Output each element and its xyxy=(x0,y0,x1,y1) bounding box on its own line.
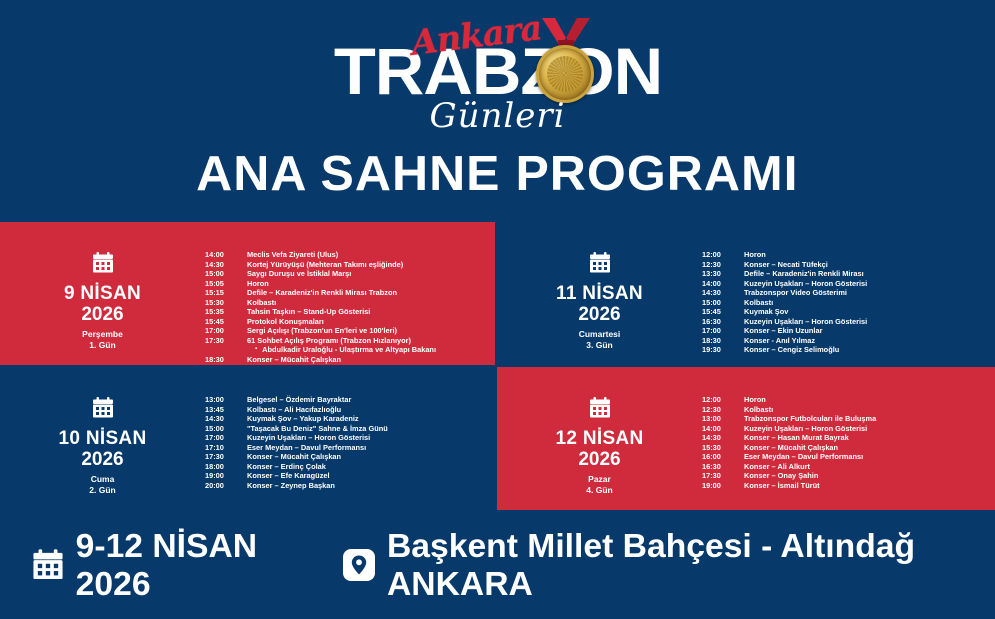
schedule-row: 19:00Konser – İsmail Türüt xyxy=(702,481,987,491)
event-time: 15:00 xyxy=(205,269,247,279)
schedule-row: 14:30Kuymak Şov – Yakup Karadeniz xyxy=(205,414,487,424)
day-weekday: Cuma xyxy=(0,473,205,485)
schedule-row: 19:30Konser – Cengiz Selimoğlu xyxy=(702,345,987,355)
event-logo: TRABZON Ankara Günleri xyxy=(333,12,663,137)
event-title: Eser Meydan – Davul Performansı xyxy=(744,452,863,462)
event-title: Kuymak Şov xyxy=(744,307,788,317)
day-year: 2026 xyxy=(0,449,205,470)
bullet-icon: ▪ xyxy=(255,345,257,355)
gold-medal-icon xyxy=(536,45,594,103)
event-time: 20:00 xyxy=(205,481,247,491)
schedule-row: 12:00Horon xyxy=(702,395,987,405)
event-time: 12:30 xyxy=(702,405,744,415)
schedule-grid: 9 NİSAN 2026 Perşembe 1. Gün 14:00Meclis… xyxy=(0,222,995,510)
calendar-icon xyxy=(32,549,64,580)
day-date: 10 NİSAN xyxy=(0,428,205,449)
schedule-row: 17:00Konser – Ekin Uzunlar xyxy=(702,326,987,336)
event-time: 15:00 xyxy=(702,298,744,308)
event-title: Konser – Cengiz Selimoğlu xyxy=(744,345,839,355)
event-time: 16:00 xyxy=(702,452,744,462)
schedule-row: 15:45Kuymak Şov xyxy=(702,307,987,317)
schedule-row: 13:30Defile – Karadeniz'in Renkli Mirası xyxy=(702,269,987,279)
event-title: Kuzeyin Uşakları – Horon Gösterisi xyxy=(744,317,867,327)
event-time: 16:30 xyxy=(702,317,744,327)
event-title: Kuzeyin Uşakları – Horon Gösterisi xyxy=(744,279,867,289)
event-time: 15:30 xyxy=(702,443,744,453)
event-time: 16:30 xyxy=(702,462,744,472)
poster-footer: 9-12 NİSAN 2026 Başkent Millet Bahçesi -… xyxy=(0,510,995,619)
schedule-row: 14:00Kuzeyin Uşakları – Horon Gösterisi xyxy=(702,279,987,289)
event-title: Kolbastı xyxy=(247,298,276,308)
event-title: Kuzeyin Uşakları – Horon Gösterisi xyxy=(247,433,370,443)
event-time: 12:30 xyxy=(702,260,744,270)
schedule-row: 15:05Horon xyxy=(205,279,487,289)
day-panel-4: 12 NİSAN 2026 Pazar 4. Gün 12:00Horon12:… xyxy=(497,367,995,510)
schedule-row: 12:30Konser – Necati Tüfekçi xyxy=(702,260,987,270)
schedule-row: 15:35Tahsin Taşkın – Stand-Up Gösterisi xyxy=(205,307,487,317)
event-time: 17:00 xyxy=(702,326,744,336)
event-time: 17:00 xyxy=(205,433,247,443)
event-time: 14:30 xyxy=(205,414,247,424)
schedule-row: 20:00Konser – Zeynep Başkan xyxy=(205,481,487,491)
event-title: Abdulkadir Uraloğlu - Ulaştırma ve Altya… xyxy=(262,345,436,355)
event-title: Konser – Ekin Uzunlar xyxy=(744,326,822,336)
event-time: 15:35 xyxy=(205,307,247,317)
schedule-row: 17:10Eser Meydan – Davul Performansı xyxy=(205,443,487,453)
day-schedule-list: 12:00Horon12:30Kolbastı13:00Trabzonspor … xyxy=(702,367,995,490)
schedule-row: 15:00"Taşacak Bu Deniz" Sahne & İmza Gün… xyxy=(205,424,487,434)
event-time: 13:45 xyxy=(205,405,247,415)
day-panel-3: 10 NİSAN 2026 Cuma 2. Gün 13:00Belgesel … xyxy=(0,367,495,510)
event-title: Tahsin Taşkın – Stand-Up Gösterisi xyxy=(247,307,370,317)
day-panel-2: 11 NİSAN 2026 Cumartesi 3. Gün 12:00Horo… xyxy=(497,222,995,365)
schedule-row: 13:00Trabzonspor Futbolcuları ile Buluşm… xyxy=(702,414,987,424)
schedule-row: 16:00Eser Meydan – Davul Performansı xyxy=(702,452,987,462)
day-date-block: 9 NİSAN 2026 Perşembe 1. Gün xyxy=(0,222,205,351)
event-time: 14:30 xyxy=(702,433,744,443)
schedule-row: 16:30Kuzeyin Uşakları – Horon Gösterisi xyxy=(702,317,987,327)
event-title: Horon xyxy=(744,395,766,405)
schedule-row: 16:30Konser – Ali Alkurt xyxy=(702,462,987,472)
schedule-row: 13:45Kolbastı – Ali Hacıfazlıoğlu xyxy=(205,405,487,415)
event-title: Konser – Hasan Murat Bayrak xyxy=(744,433,849,443)
event-time: 14:00 xyxy=(205,250,247,260)
event-title: Meclis Vefa Ziyareti (Ulus) xyxy=(247,250,338,260)
schedule-row: 13:00Belgesel – Özdemir Bayraktar xyxy=(205,395,487,405)
event-time: 19:30 xyxy=(702,345,744,355)
day-date: 12 NİSAN xyxy=(497,428,702,449)
schedule-row: 15:30Konser – Mücahit Çalışkan xyxy=(702,443,987,453)
schedule-row: 15:00Saygı Duruşu ve İstiklal Marşı xyxy=(205,269,487,279)
schedule-row: 14:30Trabzonspor Video Gösterimi xyxy=(702,288,987,298)
event-time: 13:00 xyxy=(205,395,247,405)
event-time: 15:15 xyxy=(205,288,247,298)
event-time: 12:00 xyxy=(702,250,744,260)
logo-gunleri-text: Günleri xyxy=(333,96,663,136)
event-time: 17:30 xyxy=(205,336,247,346)
day-weekday: Cumartesi xyxy=(497,328,702,340)
event-title: Konser – Efe Karagüzel xyxy=(247,471,330,481)
event-title: Kuzeyin Uşakları – Horon Gösterisi xyxy=(744,424,867,434)
schedule-row: 17:3061 Sohbet Açılış Programı (Trabzon … xyxy=(205,336,487,346)
event-title: Konser - Anıl Yılmaz xyxy=(744,336,815,346)
event-title: Kuymak Şov – Yakup Karadeniz xyxy=(247,414,359,424)
event-title: Horon xyxy=(247,279,269,289)
event-time: 18:00 xyxy=(205,462,247,472)
event-title: Trabzonspor Futbolcuları ile Buluşma xyxy=(744,414,876,424)
event-time: 19:00 xyxy=(205,471,247,481)
schedule-row: 18:30Konser - Anıl Yılmaz xyxy=(702,336,987,346)
event-title: Konser – Zeynep Başkan xyxy=(247,481,335,491)
schedule-subitem: ▪Abdulkadir Uraloğlu - Ulaştırma ve Alty… xyxy=(205,345,487,355)
day-date: 11 NİSAN xyxy=(497,283,702,304)
page-title: ANA SAHNE PROGRAMI xyxy=(196,149,798,199)
event-title: Konser – İsmail Türüt xyxy=(744,481,820,491)
event-time: 15:45 xyxy=(702,307,744,317)
day-year: 2026 xyxy=(0,304,205,325)
event-time: 15:30 xyxy=(205,298,247,308)
footer-date-range: 9-12 NİSAN 2026 xyxy=(76,527,315,603)
event-title: Konser – Mücahit Çalışkan xyxy=(744,443,838,453)
day-number: 4. Gün xyxy=(497,485,702,496)
day-date-block: 10 NİSAN 2026 Cuma 2. Gün xyxy=(0,367,205,496)
event-time: 15:45 xyxy=(205,317,247,327)
event-title: "Taşacak Bu Deniz" Sahne & İmza Günü xyxy=(247,424,388,434)
event-time: 18:30 xyxy=(205,355,247,365)
schedule-row: 14:30Kortej Yürüyüşü (Mehteran Takımı eş… xyxy=(205,260,487,270)
day-schedule-list: 14:00Meclis Vefa Ziyareti (Ulus)14:30Kor… xyxy=(205,222,495,365)
day-number: 3. Gün xyxy=(497,340,702,351)
schedule-row: 14:00Kuzeyin Uşakları – Horon Gösterisi xyxy=(702,424,987,434)
day-year: 2026 xyxy=(497,449,702,470)
schedule-row: 15:00Kolbastı xyxy=(702,298,987,308)
event-title: Protokol Konuşmaları xyxy=(247,317,324,327)
event-time: 17:30 xyxy=(205,452,247,462)
day-date-block: 11 NİSAN 2026 Cumartesi 3. Gün xyxy=(497,222,702,351)
event-time: 12:00 xyxy=(702,395,744,405)
map-pin-icon xyxy=(350,554,368,576)
day-date-block: 12 NİSAN 2026 Pazar 4. Gün xyxy=(497,367,702,496)
day-number: 1. Gün xyxy=(0,340,205,351)
event-title: Kolbastı xyxy=(744,405,773,415)
event-time: 15:00 xyxy=(205,424,247,434)
schedule-row: 17:30Konser – Onay Şahin xyxy=(702,471,987,481)
schedule-row: 17:00Sergi Açılışı (Trabzon'un En'leri v… xyxy=(205,326,487,336)
event-time: 17:00 xyxy=(205,326,247,336)
event-title: Kolbastı xyxy=(744,298,773,308)
schedule-row: 12:00Horon xyxy=(702,250,987,260)
event-time: 14:00 xyxy=(702,279,744,289)
event-title: Eser Meydan – Davul Performansı xyxy=(247,443,366,453)
footer-venue: Başkent Millet Bahçesi - Altındağ ANKARA xyxy=(387,527,995,603)
schedule-row: 14:30Konser – Hasan Murat Bayrak xyxy=(702,433,987,443)
event-title: Kolbastı – Ali Hacıfazlıoğlu xyxy=(247,405,341,415)
event-title: Horon xyxy=(744,250,766,260)
event-title: Kortej Yürüyüşü (Mehteran Takımı eşliğin… xyxy=(247,260,403,270)
schedule-row: 17:00Kuzeyin Uşakları – Horon Gösterisi xyxy=(205,433,487,443)
day-panel-1: 9 NİSAN 2026 Perşembe 1. Gün 14:00Meclis… xyxy=(0,222,495,365)
schedule-row: 18:00Konser – Erdinç Çolak xyxy=(205,462,487,472)
event-title: Konser – Erdinç Çolak xyxy=(247,462,326,472)
day-schedule-list: 13:00Belgesel – Özdemir Bayraktar13:45Ko… xyxy=(205,367,495,490)
day-schedule-list: 12:00Horon12:30Konser – Necati Tüfekçi13… xyxy=(702,222,995,355)
calendar-icon xyxy=(589,397,611,418)
event-title: Konser – Onay Şahin xyxy=(744,471,818,481)
event-title: Sergi Açılışı (Trabzon'un En'leri ve 100… xyxy=(247,326,397,336)
event-title: Konser – Ali Alkurt xyxy=(744,462,810,472)
event-title: Trabzonspor Video Gösterimi xyxy=(744,288,847,298)
event-time: 13:00 xyxy=(702,414,744,424)
day-weekday: Perşembe xyxy=(0,328,205,340)
event-title: Konser – Mücahit Çalışkan xyxy=(247,355,341,365)
event-time: 18:30 xyxy=(702,336,744,346)
event-title: 61 Sohbet Açılış Programı (Trabzon Hızla… xyxy=(247,336,411,346)
calendar-icon xyxy=(92,252,114,273)
schedule-row: 12:30Kolbastı xyxy=(702,405,987,415)
schedule-row: 17:30Konser – Mücahit Çalışkan xyxy=(205,452,487,462)
event-time: 17:30 xyxy=(702,471,744,481)
event-title: Defile – Karadeniz'in Renkli Mirası xyxy=(744,269,864,279)
schedule-row: 15:30Kolbastı xyxy=(205,298,487,308)
schedule-row: 14:00Meclis Vefa Ziyareti (Ulus) xyxy=(205,250,487,260)
event-time: 13:30 xyxy=(702,269,744,279)
event-time: 14:30 xyxy=(702,288,744,298)
day-number: 2. Gün xyxy=(0,485,205,496)
event-title: Konser – Necati Tüfekçi xyxy=(744,260,828,270)
schedule-row: 15:45Protokol Konuşmaları xyxy=(205,317,487,327)
day-year: 2026 xyxy=(497,304,702,325)
event-title: Defile – Karadeniz'in Renkli Mirası Trab… xyxy=(247,288,397,298)
event-time: 14:00 xyxy=(702,424,744,434)
event-time: 19:00 xyxy=(702,481,744,491)
event-title: Saygı Duruşu ve İstiklal Marşı xyxy=(247,269,351,279)
poster-header: TRABZON Ankara Günleri ANA SAHNE PROGRAM… xyxy=(0,0,995,220)
event-time: 14:30 xyxy=(205,260,247,270)
day-date: 9 NİSAN xyxy=(0,283,205,304)
map-pin-badge xyxy=(343,549,375,581)
calendar-icon xyxy=(589,252,611,273)
event-time: 15:05 xyxy=(205,279,247,289)
schedule-row: 19:00Konser – Efe Karagüzel xyxy=(205,471,487,481)
event-title: Belgesel – Özdemir Bayraktar xyxy=(247,395,351,405)
calendar-icon xyxy=(92,397,114,418)
day-weekday: Pazar xyxy=(497,473,702,485)
event-time: 17:10 xyxy=(205,443,247,453)
event-title: Konser – Mücahit Çalışkan xyxy=(247,452,341,462)
schedule-row: 18:30Konser – Mücahit Çalışkan xyxy=(205,355,487,365)
schedule-row: 15:15Defile – Karadeniz'in Renkli Mirası… xyxy=(205,288,487,298)
